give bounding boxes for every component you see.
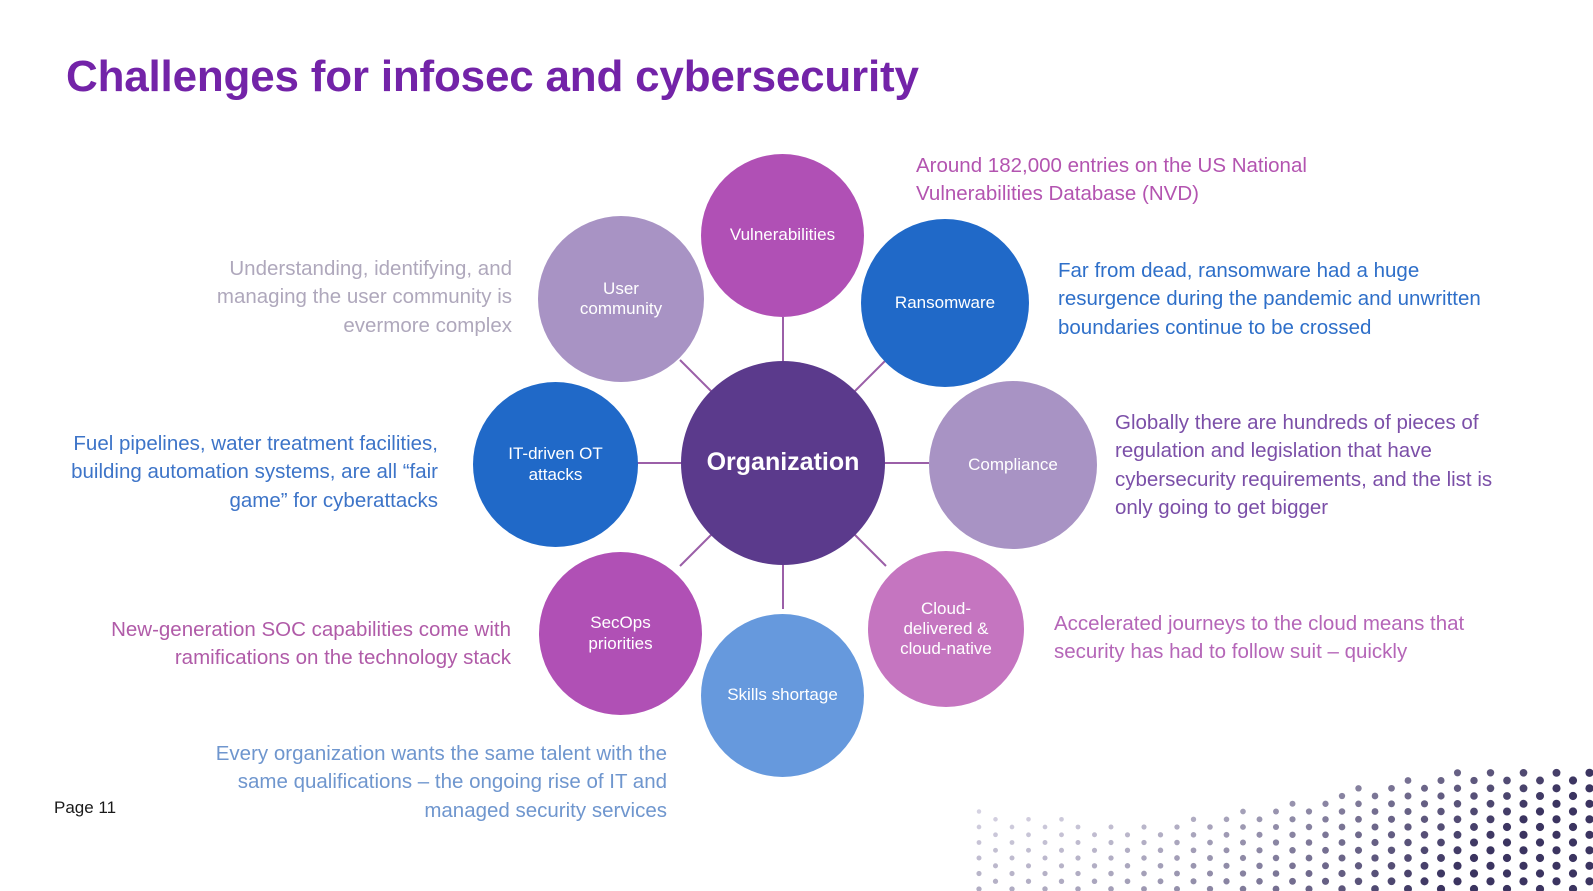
callout-skills-shortage: Every organization wants the same talent… bbox=[193, 740, 667, 825]
hub-and-spoke-diagram: Organization Vulnerabilities Ransomware … bbox=[0, 0, 1593, 891]
node-organization-label: Organization bbox=[701, 448, 866, 478]
node-user-community-label: User community bbox=[574, 279, 668, 319]
slide-canvas: Challenges for infosec and cybersecurity… bbox=[0, 0, 1593, 891]
callout-secops-priorities: New-generation SOC capabilities come wit… bbox=[100, 616, 511, 673]
callout-user-community: Understanding, identifying, and managing… bbox=[201, 255, 512, 340]
spoke-line-usercommunity bbox=[680, 360, 711, 391]
node-cloud-delivered[interactable]: Cloud- delivered & cloud-native bbox=[868, 551, 1024, 707]
node-it-driven-ot-attacks[interactable]: IT-driven OT attacks bbox=[473, 382, 638, 547]
node-compliance-label: Compliance bbox=[962, 455, 1064, 475]
spoke-line-secops bbox=[680, 535, 711, 566]
node-cloud-delivered-label: Cloud- delivered & cloud-native bbox=[894, 599, 998, 659]
node-vulnerabilities-label: Vulnerabilities bbox=[724, 225, 841, 245]
node-vulnerabilities[interactable]: Vulnerabilities bbox=[701, 154, 864, 317]
callout-it-driven-ot-attacks: Fuel pipelines, water treatment faciliti… bbox=[62, 430, 438, 515]
node-organization[interactable]: Organization bbox=[681, 361, 885, 565]
spoke-line-cloud bbox=[855, 535, 886, 566]
callout-compliance: Globally there are hundreds of pieces of… bbox=[1115, 409, 1515, 522]
page-number: Page 11 bbox=[54, 798, 116, 818]
spoke-line-ransomware bbox=[855, 360, 886, 391]
node-skills-shortage-label: Skills shortage bbox=[721, 685, 844, 705]
node-secops-priorities-label: SecOps priorities bbox=[582, 613, 658, 653]
node-user-community[interactable]: User community bbox=[538, 216, 704, 382]
node-ransomware-label: Ransomware bbox=[889, 293, 1001, 313]
node-compliance[interactable]: Compliance bbox=[929, 381, 1097, 549]
node-it-driven-ot-attacks-label: IT-driven OT attacks bbox=[502, 444, 608, 484]
callout-vulnerabilities: Around 182,000 entries on the US Nationa… bbox=[916, 152, 1346, 209]
callout-cloud-delivered: Accelerated journeys to the cloud means … bbox=[1054, 610, 1484, 667]
node-ransomware[interactable]: Ransomware bbox=[861, 219, 1029, 387]
node-skills-shortage[interactable]: Skills shortage bbox=[701, 614, 864, 777]
node-secops-priorities[interactable]: SecOps priorities bbox=[539, 552, 702, 715]
callout-ransomware: Far from dead, ransomware had a huge res… bbox=[1058, 257, 1508, 342]
